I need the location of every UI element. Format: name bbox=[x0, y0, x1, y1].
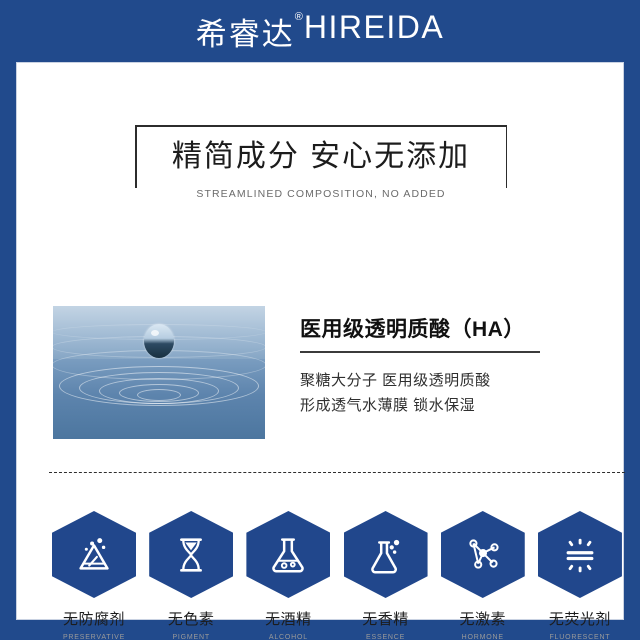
feature-item-pigment: 无色素 PIGMENT bbox=[146, 511, 236, 640]
feature-label-en: HORMONE bbox=[462, 634, 504, 640]
feature-label-en: PRESERVATIVE bbox=[63, 634, 125, 640]
flask-liquid-icon bbox=[265, 532, 311, 578]
product-infographic-page: 希睿达 ® HIREIDA 精简成分 安心无添加 STREAMLINED COM… bbox=[0, 0, 640, 640]
feature-item-alcohol: 无酒精 ALCOHOL bbox=[243, 511, 333, 640]
water-droplet-image bbox=[53, 306, 265, 439]
brand-logo-cn: 希睿达 bbox=[196, 9, 295, 54]
product-description: 聚糖大分子 医用级透明质酸 形成透气水薄膜 锁水保湿 bbox=[300, 368, 491, 418]
brand-header: 希睿达 ® HIREIDA bbox=[0, 0, 640, 62]
feature-hexagon bbox=[441, 511, 525, 598]
section-title-box: 精简成分 安心无添加 STREAMLINED COMPOSITION, NO A… bbox=[135, 125, 507, 193]
feature-item-hormone: 无激素 HORMONE bbox=[438, 511, 528, 640]
feature-hexagon bbox=[149, 511, 233, 598]
flask-bubbles-icon bbox=[363, 532, 409, 578]
feature-label-en: FLUORESCENT bbox=[549, 634, 610, 640]
feature-label-en: PIGMENT bbox=[172, 634, 210, 640]
feature-label-cn: 无酒精 bbox=[265, 608, 312, 629]
ripple-ring bbox=[137, 389, 181, 401]
feature-label-cn: 无色素 bbox=[168, 608, 215, 629]
feature-label-cn: 无防腐剂 bbox=[63, 608, 125, 629]
water-droplet-icon bbox=[144, 324, 174, 358]
title-box-border-top bbox=[135, 125, 507, 127]
molecule-icon bbox=[460, 532, 506, 578]
section-title-en: STREAMLINED COMPOSITION, NO ADDED bbox=[135, 188, 507, 200]
registered-trademark-icon: ® bbox=[295, 12, 304, 23]
section-divider bbox=[49, 472, 625, 473]
brand-logo: 希睿达 ® HIREIDA bbox=[196, 9, 444, 54]
product-heading: 医用级透明质酸（HA） bbox=[300, 313, 525, 343]
hourglass-icon bbox=[168, 532, 214, 578]
cone-powder-icon bbox=[71, 532, 117, 578]
content-panel: 精简成分 安心无添加 STREAMLINED COMPOSITION, NO A… bbox=[16, 62, 624, 620]
feature-item-essence: 无香精 ESSENCE bbox=[341, 511, 431, 640]
feature-label-en: ALCOHOL bbox=[269, 634, 308, 640]
product-description-line-2: 形成透气水薄膜 锁水保湿 bbox=[300, 393, 491, 418]
fluorescent-icon bbox=[557, 532, 603, 578]
feature-hexagon bbox=[538, 511, 622, 598]
product-description-line-1: 聚糖大分子 医用级透明质酸 bbox=[300, 368, 491, 393]
feature-label-cn: 无激素 bbox=[459, 608, 506, 629]
feature-label-en: ESSENCE bbox=[366, 634, 405, 640]
feature-label-cn: 无香精 bbox=[362, 608, 409, 629]
feature-hexagon bbox=[344, 511, 428, 598]
feature-hexagon bbox=[246, 511, 330, 598]
feature-label-cn: 无荧光剂 bbox=[549, 608, 611, 629]
feature-hexagon bbox=[52, 511, 136, 598]
section-title-cn: 精简成分 安心无添加 bbox=[135, 131, 507, 175]
product-heading-rule bbox=[300, 351, 540, 353]
feature-item-fluorescent: 无荧光剂 FLUORESCENT bbox=[535, 511, 625, 640]
feature-list: 无防腐剂 PRESERVATIVE 无色素 PIGMENT bbox=[49, 511, 625, 640]
feature-item-preservative: 无防腐剂 PRESERVATIVE bbox=[49, 511, 139, 640]
brand-logo-en: HIREIDA bbox=[304, 9, 444, 46]
